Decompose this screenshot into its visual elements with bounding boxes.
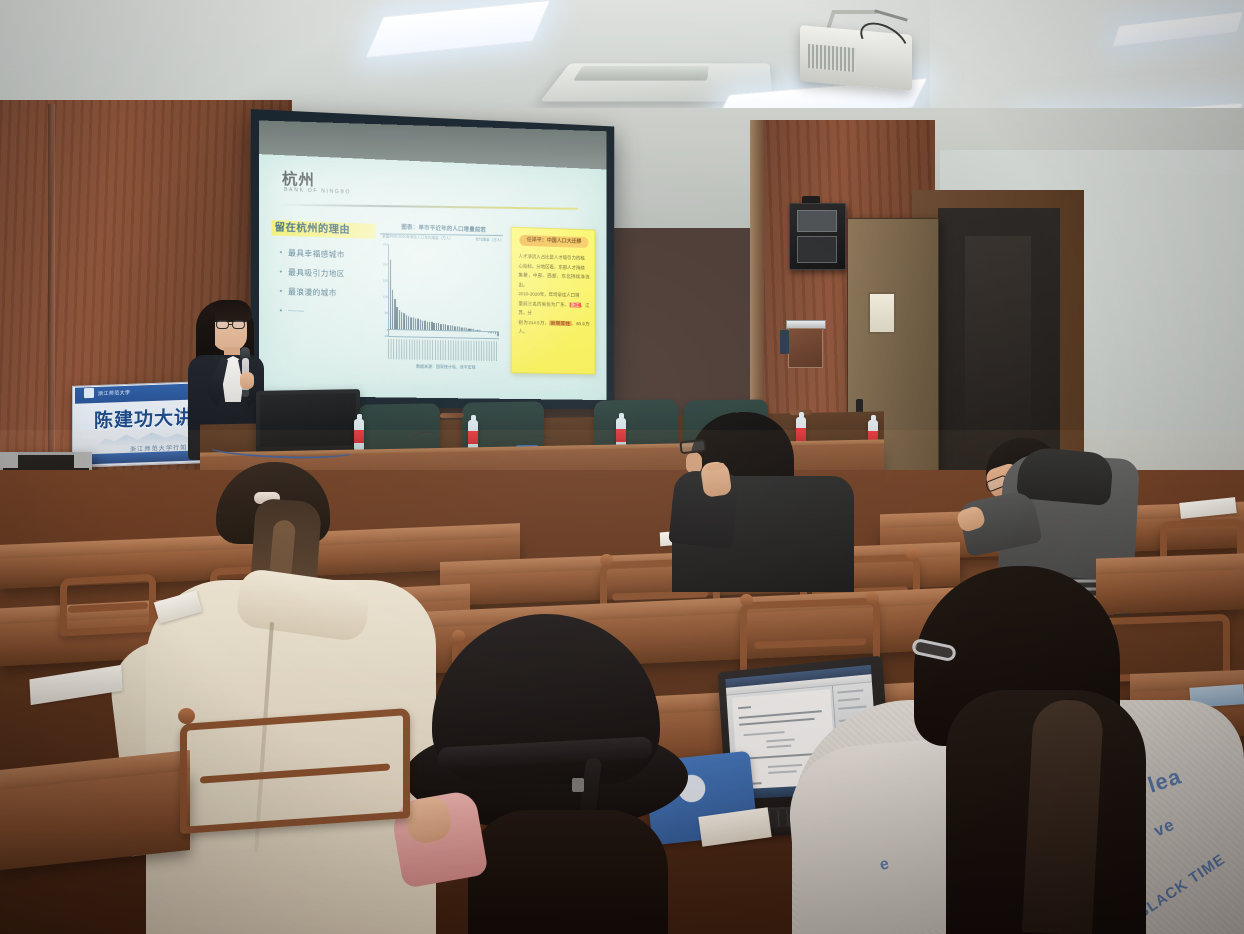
bottle-label [354, 430, 364, 443]
hat-tag [572, 778, 584, 792]
glasses-icon [679, 439, 706, 455]
chart-y-tick: 260 [377, 242, 388, 246]
chair-knob [866, 592, 879, 604]
bullet-dot [280, 290, 282, 292]
speaker-grille-upper [797, 210, 837, 232]
air-conditioner-vent [573, 66, 709, 81]
projector-vent [808, 44, 856, 72]
chart-bar [390, 259, 391, 329]
chair-knob [600, 554, 613, 566]
bottle-label [796, 428, 806, 441]
speaker-grille-lower [797, 236, 837, 263]
hoodie-hood [1016, 446, 1114, 506]
presentation-slide: 杭州 BANK OF NINGBO 留在杭州的理由 最具幸福感城市 最具吸引力地… [259, 154, 607, 400]
callout-line: 集聚，中部、西部、东北持续净流出。 [518, 270, 589, 291]
chart-bar [497, 332, 498, 337]
chart-bar [413, 318, 414, 330]
chart-bar [392, 290, 393, 330]
bottle-label [616, 429, 626, 442]
chart-bar [403, 313, 404, 329]
chart-y-tick: 50 [377, 311, 388, 315]
chair-knob [906, 548, 919, 560]
slide-bar-chart: 图表：单市平近年的人口增量前若 全国2006-2020年常住人口年均增量（万人）… [380, 222, 505, 373]
chair-armrest [440, 413, 464, 418]
case-corner [74, 452, 92, 468]
slide-bullet-2: 最具吸引力地区 [288, 267, 345, 280]
chart-source-note: 数据来源：国家统计局、泽平宏观 [392, 363, 499, 371]
chart-bar [401, 312, 402, 330]
bullet-dot [280, 270, 282, 272]
chart-zero-line [389, 329, 499, 332]
door-window [868, 292, 896, 334]
callout-body-text: 人才净流入占比是人才吸引力的核心指标。分地区看，东部人才持续集聚，中部、西部、东… [518, 252, 589, 338]
wall-frame [788, 328, 823, 368]
slide-section-heading: 留在杭州的理由 [275, 220, 377, 239]
bottle-label [468, 431, 478, 444]
chart-x-tick-labels [388, 339, 499, 361]
chart-y-tick: 200 [377, 262, 388, 266]
callout-highlight-orange: 新增常住 [550, 320, 572, 325]
callout-line: 别为214.5万、新增常住、60.9万人。 [518, 317, 589, 337]
chart-y-tick: 150 [377, 278, 388, 282]
chart-bar [417, 319, 418, 330]
desk-row [1096, 569, 1244, 614]
slide-bullet-4: —— [288, 305, 304, 315]
wall-panel-seam [48, 104, 55, 476]
chart-bar [394, 299, 395, 330]
chair-knob [452, 630, 465, 642]
chart-bar [495, 332, 496, 335]
glasses-icon [216, 320, 229, 329]
chart-y-tick: 0 [377, 327, 388, 331]
chart-bar [408, 316, 409, 330]
chart-bar [415, 318, 416, 330]
slide-bullet-1: 最具幸福感城市 [288, 247, 345, 260]
lecture-hall-photo: 杭州 BANK OF NINGBO 留在杭州的理由 最具幸福感城市 最具吸引力地… [0, 0, 1244, 934]
callout-line: 量前三名的省份为广东、浙江、江苏，分 [518, 299, 589, 319]
slide-bullet-3: 最浪漫的城市 [288, 286, 337, 298]
wall-switch-icon[interactable] [780, 330, 789, 354]
bullet-dot [280, 251, 282, 253]
microphone-base [242, 390, 249, 397]
chart-bar [490, 332, 491, 333]
chart-bar [406, 315, 407, 330]
chart-y-tick: -20 [377, 334, 388, 338]
callout-highlight-red: 浙江 [569, 302, 580, 307]
chart-bar [410, 317, 411, 330]
glasses-bridge [229, 324, 233, 325]
slide-divider-rule [280, 204, 578, 210]
glasses-icon [232, 320, 245, 329]
hair-strand [1022, 698, 1104, 934]
slide-subtitle: BANK OF NINGBO [284, 187, 351, 196]
callout-header: 任泽平：中国人口大迁移 [519, 235, 588, 248]
chart-y-tick: 100 [377, 294, 388, 298]
speaker-hand [240, 372, 254, 389]
chart-legend: 年均增量（万人） [476, 237, 504, 243]
chart-bar [397, 307, 398, 329]
university-logo-icon [84, 388, 94, 398]
chart-bar [399, 310, 400, 330]
slide-callout-box: 任泽平：中国人口大迁移 人才净流入占比是人才吸引力的核心指标。分地区看，东部人才… [511, 227, 596, 375]
chart-bar [493, 332, 494, 334]
chair-knob [740, 594, 753, 606]
case-corner [0, 452, 18, 468]
chart-plot-area: 260200150100500-20 [388, 244, 499, 339]
chair-knob [178, 708, 195, 724]
chart-title: 图表：单市平近年的人口增量前若 [388, 222, 499, 234]
bullet-dot [280, 309, 282, 311]
student-bucket-hat-hair [468, 810, 668, 934]
chart-bar [488, 332, 489, 333]
